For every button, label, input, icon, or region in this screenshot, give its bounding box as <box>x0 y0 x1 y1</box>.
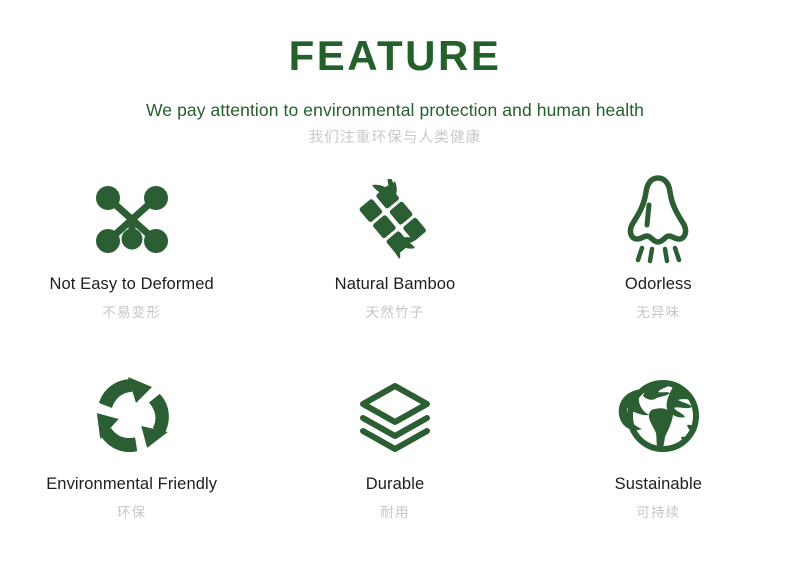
feature-label-english: Durable <box>366 475 424 495</box>
icon-container <box>622 169 694 269</box>
feature-label-chinese: 环保 <box>117 505 146 521</box>
subtitle-chinese: 我们注重环保与人类健康 <box>0 130 790 147</box>
feature-item-natural-bamboo: Natural Bamboo 天然竹子 <box>263 169 526 365</box>
feature-label-english: Natural Bamboo <box>335 275 456 295</box>
feature-label-chinese: 不易变形 <box>102 305 161 321</box>
feature-section: FEATURE We pay attention to environmenta… <box>0 0 790 576</box>
feature-item-not-easy-to-deformed: Not Easy to Deformed 不易变形 <box>0 169 263 365</box>
globe-leaf-icon <box>615 375 701 457</box>
layers-icon <box>355 380 435 452</box>
page-title: FEATURE <box>0 34 790 78</box>
feature-label-chinese: 天然竹子 <box>366 305 425 321</box>
feature-item-sustainable: Sustainable 可持续 <box>527 365 790 561</box>
feature-label-chinese: 耐用 <box>380 505 409 521</box>
icon-container <box>615 365 701 467</box>
feature-label-english: Sustainable <box>615 475 702 495</box>
subtitle-english: We pay attention to environmental protec… <box>0 100 790 121</box>
feature-item-environmental-friendly: Environmental Friendly 环保 <box>0 365 263 561</box>
feature-item-durable: Durable 耐用 <box>263 365 526 561</box>
nose-icon <box>622 173 694 265</box>
feature-label-chinese: 可持续 <box>636 505 680 521</box>
icon-container <box>358 169 432 269</box>
feature-label-english: Environmental Friendly <box>46 475 217 495</box>
bamboo-icon <box>358 179 432 259</box>
molecule-nodes-icon <box>94 183 170 255</box>
icon-container <box>94 169 170 269</box>
feature-label-chinese: 无异味 <box>636 305 680 321</box>
feature-label-english: Odorless <box>625 275 692 295</box>
icon-container <box>90 365 174 467</box>
feature-label-english: Not Easy to Deformed <box>50 275 214 295</box>
header: FEATURE We pay attention to environmenta… <box>0 0 790 147</box>
feature-grid: Not Easy to Deformed 不易变形 <box>0 169 790 561</box>
recycle-icon <box>90 375 174 457</box>
feature-item-odorless: Odorless 无异味 <box>527 169 790 365</box>
icon-container <box>355 365 435 467</box>
